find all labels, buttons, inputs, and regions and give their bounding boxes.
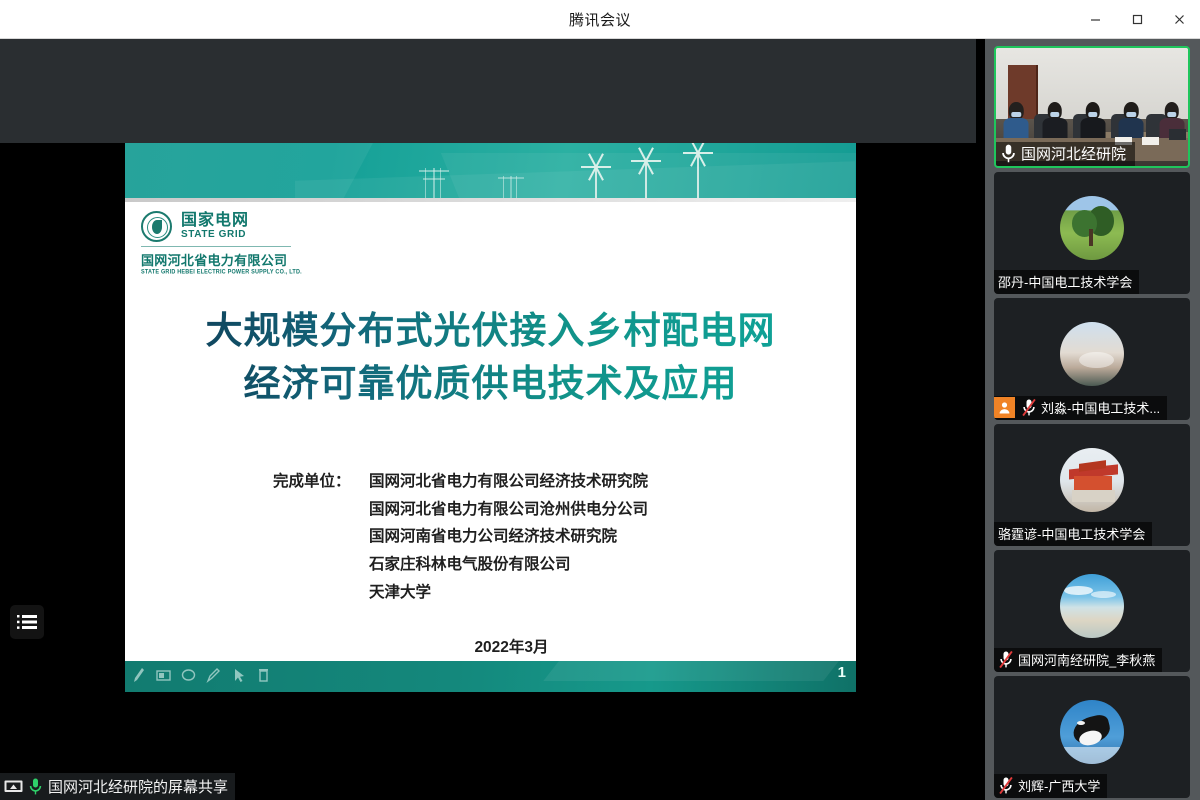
logo-divider (141, 246, 291, 247)
pen-icon[interactable] (131, 665, 146, 685)
screen-share-status-bar: 国网河北经研院的屏幕共享 (0, 773, 235, 800)
credit-row: 国网河南省电力公司经济技术研究院 (273, 523, 648, 551)
state-grid-logo: 国家电网 STATE GRID 国网河北省电力有限公司 STATE GRID H… (141, 211, 302, 275)
list-view-icon (17, 614, 37, 630)
participant-tile[interactable]: 刘辉-广西大学 (994, 676, 1190, 798)
microphone-icon (28, 777, 43, 796)
cloudy-sky-avatar (1060, 322, 1124, 386)
microphone-muted-icon (998, 650, 1014, 669)
shared-screen-stage: 国家电网 STATE GRID 国网河北省电力有限公司 STATE GRID H… (0, 39, 976, 800)
text-box-icon[interactable] (156, 665, 171, 685)
participant-list-toggle-button[interactable] (10, 605, 44, 639)
annotation-toolbar[interactable] (131, 665, 271, 685)
credit-row: 完成单位： 国网河北省电力有限公司经济技术研究院 (273, 468, 648, 496)
slide-header-divider (125, 198, 856, 202)
credit-org: 国网河南省电力公司经济技术研究院 (369, 523, 648, 551)
ellipse-icon[interactable] (181, 665, 196, 685)
participant-tile[interactable]: 刘淼-中国电工技术... (994, 298, 1190, 420)
credit-org: 国网河北省电力有限公司沧州供电分公司 (369, 496, 648, 524)
participant-name-bar: 刘辉-广西大学 (994, 774, 1107, 798)
credits-label: 完成单位： (273, 468, 369, 496)
slide-title: 大规模分布式光伏接入乡村配电网 经济可靠优质供电技术及应用 (125, 305, 856, 410)
screen-share-icon (4, 778, 23, 795)
slide-title-line-2: 经济可靠优质供电技术及应用 (125, 358, 856, 411)
participant-rail[interactable]: 国网河北经研院 邵丹-中国电工技术学会 (985, 39, 1200, 800)
participant-name: 刘辉-广西大学 (1018, 776, 1100, 795)
credit-org: 天津大学 (369, 579, 648, 607)
maximize-button[interactable] (1116, 0, 1158, 39)
highlighter-icon[interactable] (206, 665, 221, 685)
logo-company-en: STATE GRID HEBEI ELECTRIC POWER SUPPLY C… (141, 269, 302, 276)
temple-avatar (1060, 448, 1124, 512)
window-title-bar: 腾讯会议 (0, 0, 1200, 39)
participant-tile[interactable]: 国网河南经研院_李秋燕 (994, 550, 1190, 672)
host-person-icon (994, 397, 1015, 418)
logo-name-cn: 国家电网 (181, 213, 249, 230)
minimize-icon (1089, 13, 1102, 26)
microphone-icon (1000, 143, 1017, 164)
pylon-icon (503, 176, 517, 198)
credit-row: 天津大学 (273, 579, 648, 607)
participant-name-bar: 邵丹-中国电工技术学会 (994, 270, 1139, 294)
participant-tile[interactable]: 邵丹-中国电工技术学会 (994, 172, 1190, 294)
participant-name-bar: 国网河北经研院 (996, 142, 1135, 166)
credit-row: 国网河北省电力有限公司沧州供电分公司 (273, 496, 648, 524)
screen-share-label: 国网河北经研院的屏幕共享 (48, 776, 228, 797)
participant-name-bar: 骆霆谚-中国电工技术学会 (994, 522, 1152, 546)
window-title: 腾讯会议 (569, 9, 631, 30)
slide-footer-bar: 1 (125, 661, 856, 692)
credit-org: 石家庄科林电气股份有限公司 (369, 551, 648, 579)
slide-credits: 完成单位： 国网河北省电力有限公司经济技术研究院 国网河北省电力有限公司沧州供电… (273, 468, 648, 607)
tree-meadow-avatar (1060, 196, 1124, 260)
logo-name-en: STATE GRID (181, 229, 249, 240)
wind-turbine-icon (697, 154, 699, 198)
pointer-icon[interactable] (231, 665, 246, 685)
logo-company-cn: 国网河北省电力有限公司 (141, 250, 302, 269)
stage-letterbox-band (0, 39, 976, 143)
participant-name: 刘淼-中国电工技术... (1041, 398, 1160, 417)
slide-title-line-1: 大规模分布式光伏接入乡村配电网 (125, 305, 856, 358)
slide-header-banner (125, 143, 856, 198)
maximize-icon (1131, 13, 1144, 26)
participant-name: 邵丹-中国电工技术学会 (998, 272, 1132, 291)
credit-row: 石家庄科林电气股份有限公司 (273, 551, 648, 579)
slide-date: 2022年3月 (125, 635, 856, 657)
participant-name: 国网河北经研院 (1021, 143, 1126, 164)
close-button[interactable] (1158, 0, 1200, 39)
state-grid-logo-icon (141, 211, 172, 242)
slide-page-number: 1 (838, 664, 846, 681)
pylon-icon (425, 168, 441, 198)
participant-name-bar: 刘淼-中国电工技术... (994, 396, 1167, 420)
wind-turbine-icon (595, 168, 597, 198)
close-icon (1173, 13, 1186, 26)
participant-name-bar: 国网河南经研院_李秋燕 (994, 648, 1162, 672)
participant-name: 国网河南经研院_李秋燕 (1018, 650, 1155, 669)
participant-tile[interactable]: 国网河北经研院 (994, 46, 1190, 168)
minimize-button[interactable] (1074, 0, 1116, 39)
microphone-muted-icon (1021, 398, 1037, 417)
presentation-slide[interactable]: 国家电网 STATE GRID 国网河北省电力有限公司 STATE GRID H… (125, 143, 856, 692)
orca-whale-avatar (1060, 700, 1124, 764)
wind-turbine-icon (645, 162, 647, 198)
participant-tile[interactable]: 骆霆谚-中国电工技术学会 (994, 424, 1190, 546)
trash-icon[interactable] (256, 665, 271, 685)
window-controls (1074, 0, 1200, 39)
participant-name: 骆霆谚-中国电工技术学会 (998, 524, 1145, 543)
credit-org: 国网河北省电力有限公司经济技术研究院 (369, 468, 648, 496)
microphone-muted-icon (998, 776, 1014, 795)
beach-avatar (1060, 574, 1124, 638)
